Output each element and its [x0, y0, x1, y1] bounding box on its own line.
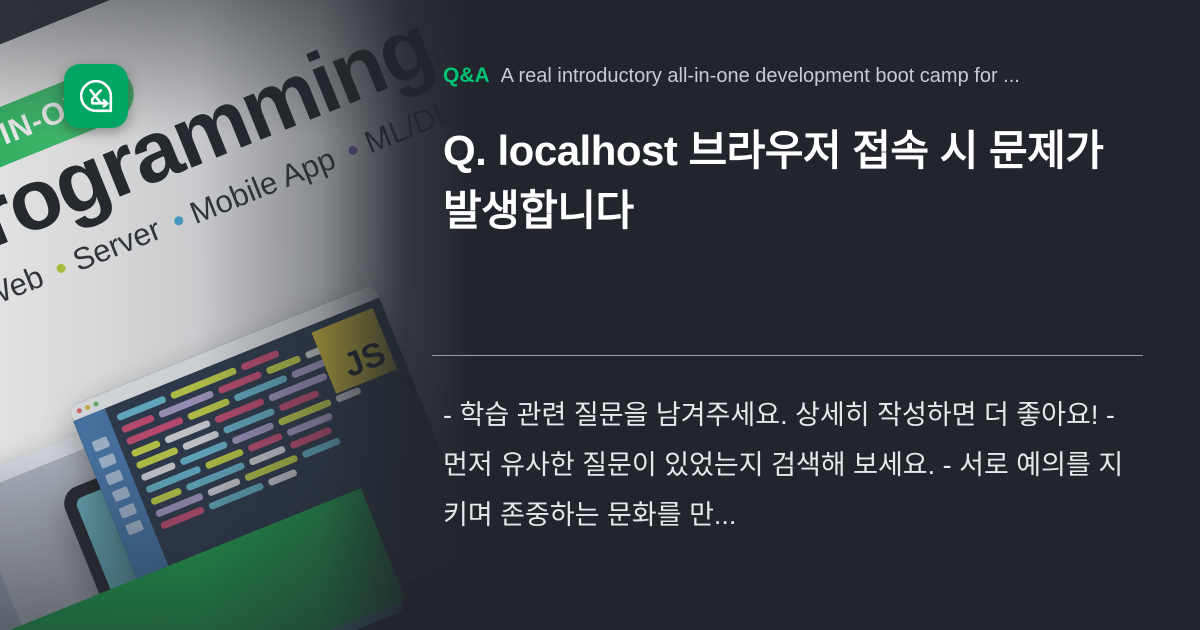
post-body-excerpt: - 학습 관련 질문을 남겨주세요. 상세히 작성하면 더 좋아요! - 먼저 … — [443, 390, 1143, 541]
content-divider — [432, 355, 1143, 356]
inflearn-logo — [64, 64, 128, 128]
page-title: Q. localhost 브라우저 접속 시 문제가 발생합니다 — [443, 121, 1133, 240]
tag-dot-server — [55, 262, 67, 274]
cover-tag-web: Web — [0, 259, 49, 316]
breadcrumb: Q&A A real introductory all-in-one devel… — [443, 64, 1143, 88]
card-content: Q&A A real introductory all-in-one devel… — [443, 0, 1143, 630]
course-subtitle: A real introductory all-in-one developme… — [501, 65, 1020, 88]
og-social-card: ALL-IN-ONE Programming Web Server Mobile… — [0, 0, 1200, 630]
tag-dot-ml-dl — [347, 144, 359, 156]
qa-category-tag: Q&A — [443, 64, 490, 88]
tag-dot-mobile-app — [172, 215, 184, 227]
inflearn-logo-icon — [77, 77, 115, 115]
